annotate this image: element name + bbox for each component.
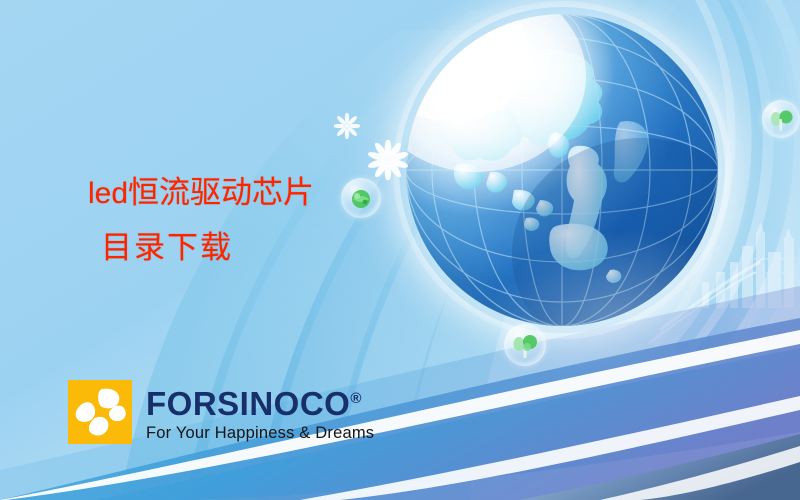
logo-tagline: For Your Happiness & Dreams <box>146 423 374 443</box>
headline-line-1: led恒流驱动芯片 <box>88 166 418 221</box>
banner-root: led恒流驱动芯片 目录下载 FORSINOCO® For Your Happi… <box>0 0 800 500</box>
logo-text-block: FORSINOCO® For Your Happiness & Dreams <box>146 380 374 443</box>
headline-line-2: 目录下载 <box>88 221 418 275</box>
headline-block: led恒流驱动芯片 目录下载 <box>88 166 418 275</box>
pinwheel-petals <box>68 380 132 444</box>
globe-surface <box>406 14 718 326</box>
headline-cjk: 恒流驱动芯片 <box>128 175 314 211</box>
logo-name-text: FORSINOCO <box>146 385 350 422</box>
registered-trademark-icon: ® <box>350 390 361 407</box>
bubble-icon-tree <box>504 324 546 366</box>
headline-latin: led <box>88 177 128 210</box>
bubble-inner-leaf-icon <box>762 100 800 138</box>
bubble-inner-tree-icon <box>504 324 546 366</box>
earth-globe-icon <box>406 14 718 326</box>
four-petal-pinwheel-icon <box>68 380 132 444</box>
bubble-icon-edge <box>762 100 800 138</box>
white-flower-icon-small <box>334 113 360 139</box>
logo-company-name: FORSINOCO® <box>146 382 374 421</box>
company-logo[interactable]: FORSINOCO® For Your Happiness & Dreams <box>68 380 374 444</box>
